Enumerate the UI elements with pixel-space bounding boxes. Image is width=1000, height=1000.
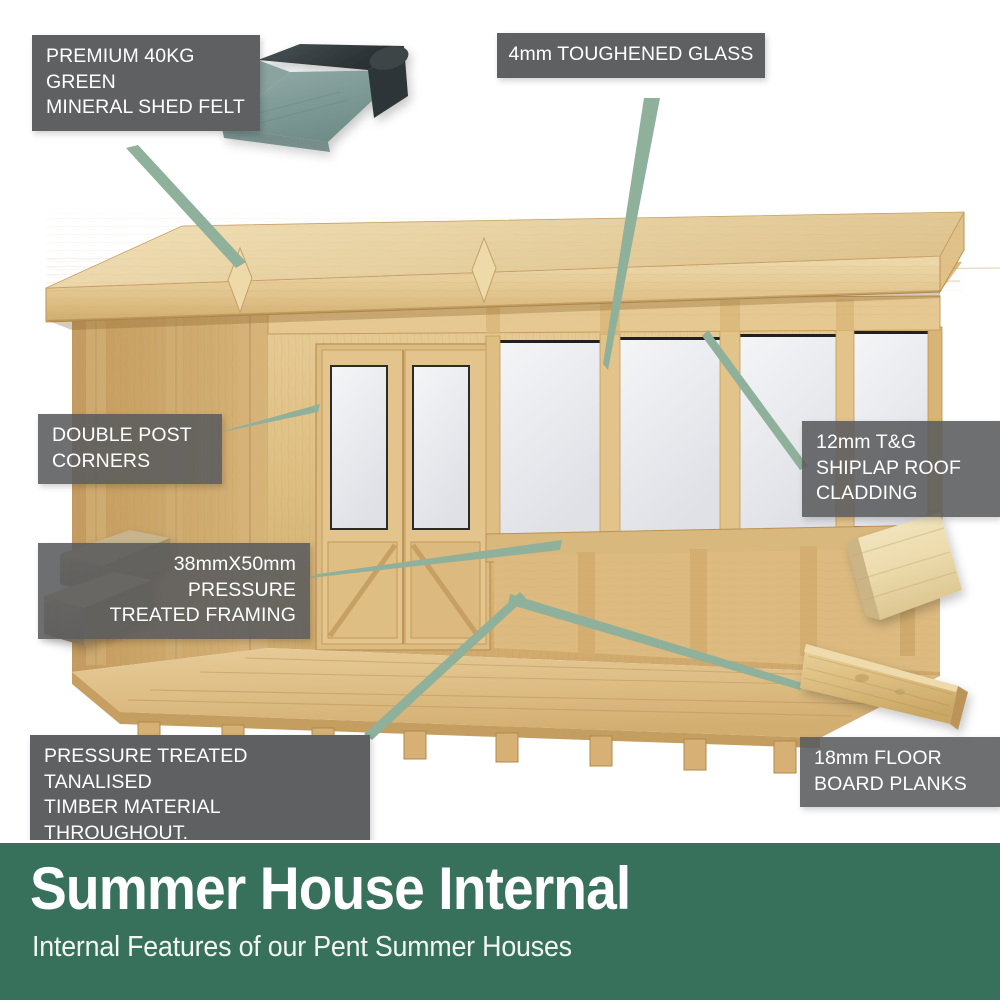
callout-shed-felt[interactable]: PREMIUM 40KG GREEN MINERAL SHED FELT	[32, 35, 260, 131]
banner-subtitle: Internal Features of our Pent Summer Hou…	[32, 931, 572, 964]
callout-double-post-corners[interactable]: DOUBLE POST CORNERS	[38, 414, 222, 484]
window-glass-1	[497, 343, 603, 535]
roof-fascia	[46, 212, 964, 330]
callout-shiplap-roof-cladding[interactable]: 12mm T&G SHIPLAP ROOF CLADDING	[802, 421, 1000, 517]
callout-tanalised-timber[interactable]: PRESSURE TREATED TANALISED TIMBER MATERI…	[30, 735, 370, 857]
callout-toughened-glass[interactable]: 4mm TOUGHENED GLASS	[497, 33, 765, 78]
callout-pressure-treated-framing[interactable]: 38mmX50mm PRESSURE TREATED FRAMING	[38, 543, 310, 639]
double-doors	[316, 344, 490, 650]
callout-floor-board-planks[interactable]: 18mm FLOOR BOARD PLANKS	[800, 737, 1000, 807]
bottom-banner: Summer House Internal Internal Features …	[0, 840, 1000, 1000]
window-glass-2	[617, 340, 723, 532]
infographic-canvas: PREMIUM 40KG GREEN MINERAL SHED FELT 4mm…	[0, 0, 1000, 1000]
banner-title: Summer House Internal	[30, 859, 630, 919]
door-glass-right	[414, 367, 468, 528]
door-glass-left	[332, 367, 386, 528]
